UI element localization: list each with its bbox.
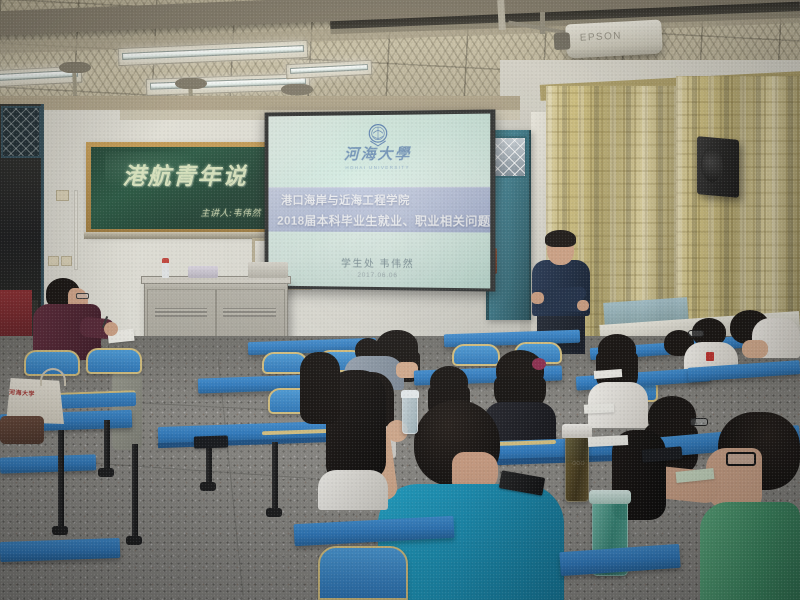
projection-screen-frame: 河海大學 HOHAI UNIVERSITY 港口海岸与近海工程学院 2018届本… — [265, 109, 496, 291]
wall-outlet-1 — [48, 256, 59, 266]
speaker-hand-right — [577, 300, 589, 311]
green-glass-bottle-cap — [589, 490, 631, 504]
student-green-tee-glasses-icon — [726, 452, 756, 466]
lecture-hall-photo: EPSON 港航青年说 主讲人:韦伟然 — [0, 0, 800, 600]
screen-vignette — [268, 114, 490, 289]
podium-equipment-box — [248, 262, 288, 278]
projector-lens — [554, 32, 571, 50]
blackboard-surface: 港航青年说 主讲人:韦伟然 — [91, 147, 271, 229]
seated-man-hand — [104, 322, 118, 336]
desk-leg-front-1 — [272, 442, 278, 512]
student-green-tee-torso — [700, 502, 800, 600]
speaker-hair — [545, 230, 576, 247]
projector-brand-label: EPSON — [580, 31, 623, 44]
blackboard-headline-text: 港航青年说 — [99, 157, 271, 191]
desk-top-bottom-left — [0, 538, 120, 562]
desk-foot-front-2 — [126, 536, 142, 545]
student-left-edge-hair — [300, 352, 340, 424]
desk-leg-front-2 — [132, 444, 138, 540]
desk-leg-left-2 — [104, 420, 110, 472]
tea-bottle-cap — [562, 424, 592, 438]
speaker-cone — [701, 147, 723, 185]
clear-water-bottle-cap — [401, 390, 419, 398]
wall-outlet-2 — [61, 256, 72, 266]
speaker-hand-left — [531, 292, 544, 304]
tea-bottle-label: ◌◌◌ — [572, 460, 582, 482]
cabinet-vent-upper-right — [223, 308, 276, 317]
hair-tie-pink — [532, 358, 546, 370]
smartphone-on-desk-left[interactable] — [194, 435, 228, 448]
desk-foot-front-3 — [200, 482, 216, 491]
seat-back-front-left-2[interactable] — [86, 348, 142, 374]
student-far-right-arm — [742, 340, 768, 358]
blackboard-subline-text: 主讲人:韦伟然 — [201, 206, 262, 219]
tote-bag-text: 河海大学 — [9, 387, 36, 398]
blackboard: 港航青年说 主讲人:韦伟然 — [86, 142, 276, 234]
dark-bag-floor — [0, 416, 44, 444]
epson-projector: EPSON — [565, 20, 663, 59]
wall-speaker — [697, 136, 739, 198]
desk-foot-left-2 — [98, 468, 114, 477]
student-white-tee-glasses — [688, 330, 704, 337]
projector-arm-riser — [540, 12, 545, 34]
fan-mount-cap-2 — [175, 78, 207, 89]
desk-top-lower-left — [0, 454, 96, 473]
seated-man-glasses — [76, 293, 89, 299]
desk-leg-left-1 — [58, 430, 64, 530]
clear-water-bottle — [402, 396, 418, 434]
projector-ceiling-pole — [497, 0, 506, 30]
podium-water-bottle — [162, 258, 169, 278]
projection-screen: 河海大學 HOHAI UNIVERSITY 港口海岸与近海工程学院 2018届本… — [268, 114, 490, 289]
student-white-tee-logo — [706, 352, 714, 361]
fan-mount-cap-3 — [281, 84, 313, 95]
desk-foot-left-1 — [52, 526, 68, 535]
seat-back-br-1[interactable] — [452, 344, 500, 366]
notebook-paper-right — [588, 435, 628, 447]
light-switch-upper — [56, 190, 69, 201]
student-long-hair-left-torso — [318, 470, 388, 510]
notebook-paper-mid — [584, 403, 614, 414]
fan-mount-cap-1 — [59, 62, 91, 73]
student-black-top-right-glasses — [690, 418, 708, 426]
desk-foot-front-1 — [266, 508, 282, 517]
seat-back-foreground[interactable] — [318, 546, 408, 600]
blackboard-chalk-tray — [84, 232, 280, 239]
podium-small-items — [188, 266, 218, 278]
wall-conduit — [74, 190, 78, 270]
cabinet-vent-upper-left — [155, 308, 208, 317]
left-doorway-grille — [1, 106, 41, 158]
door-window-grille — [491, 136, 527, 178]
wall-trim-upper — [0, 96, 520, 110]
